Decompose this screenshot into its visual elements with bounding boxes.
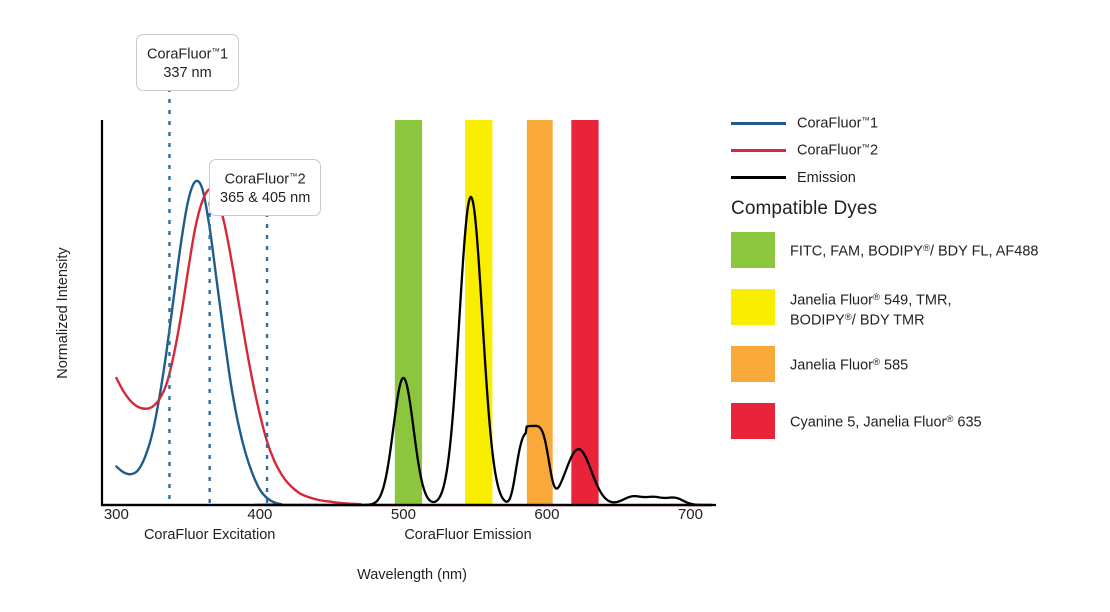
- dye-label-line: Cyanine 5, Janelia Fluor® 635: [790, 411, 982, 431]
- registered-symbol: ®: [845, 312, 852, 323]
- x-tick-300: 300: [104, 506, 129, 523]
- legend-line-swatch: [731, 122, 786, 125]
- dye-legend-row: Janelia Fluor® 585: [731, 346, 1110, 403]
- compatible-dyes-title: Compatible Dyes: [731, 198, 877, 220]
- legend-series-label: Emission: [797, 170, 856, 186]
- callout-corafluor1-line1: CoraFluor™1: [147, 42, 228, 64]
- dye-legend-row: Janelia Fluor® 549, TMR,BODIPY®/ BDY TMR: [731, 289, 1110, 346]
- x-axis-title: Wavelength (nm): [357, 567, 467, 583]
- series-legend: CoraFluor™1CoraFluor™2Emission: [731, 110, 1110, 191]
- trademark-symbol: ™: [289, 171, 298, 181]
- dye-label: FITC, FAM, BODIPY®/ BDY FL, AF488: [790, 232, 1038, 260]
- compatible-dyes-list: FITC, FAM, BODIPY®/ BDY FL, AF488Janelia…: [731, 232, 1110, 460]
- legend-line-swatch: [731, 176, 786, 179]
- registered-symbol: ®: [923, 243, 930, 254]
- green-band: [395, 120, 422, 505]
- dye-label-line: Janelia Fluor® 585: [790, 354, 908, 374]
- registered-symbol: ®: [873, 292, 880, 303]
- legend-series-label: CoraFluor™1: [797, 115, 878, 132]
- dye-label: Janelia Fluor® 549, TMR,BODIPY®/ BDY TMR: [790, 289, 951, 330]
- callout-corafluor2: CoraFluor™2 365 & 405 nm: [209, 159, 321, 216]
- dye-color-swatch: [731, 403, 775, 439]
- dye-label: Janelia Fluor® 585: [790, 346, 908, 374]
- legend-panel: CoraFluor™1CoraFluor™2Emission Compatibl…: [731, 0, 1110, 612]
- callout-corafluor1-line2: 337 nm: [147, 64, 228, 82]
- registered-symbol: ®: [946, 414, 953, 425]
- region-label-emission: CoraFluor Emission: [404, 527, 531, 543]
- dye-label: Cyanine 5, Janelia Fluor® 635: [790, 403, 982, 431]
- dye-label-line: BODIPY®/ BDY TMR: [790, 309, 951, 329]
- registered-symbol: ®: [873, 357, 880, 368]
- callout-corafluor2-line2: 365 & 405 nm: [220, 189, 310, 207]
- trademark-symbol: ™: [861, 115, 870, 125]
- dye-color-swatch: [731, 232, 775, 268]
- red-band: [571, 120, 598, 505]
- x-tick-500: 500: [391, 506, 416, 523]
- orange-band: [527, 120, 553, 505]
- dye-legend-row: FITC, FAM, BODIPY®/ BDY FL, AF488: [731, 232, 1110, 289]
- plot-area: CoraFluor™1 337 nm CoraFluor™2 365 & 405…: [0, 0, 730, 612]
- dye-label-line: FITC, FAM, BODIPY®/ BDY FL, AF488: [790, 240, 1038, 260]
- callout-corafluor1: CoraFluor™1 337 nm: [136, 34, 239, 91]
- dye-color-swatch: [731, 289, 775, 325]
- region-label-excitation: CoraFluor Excitation: [144, 527, 275, 543]
- legend-line-swatch: [731, 149, 786, 152]
- legend-series-label: CoraFluor™2: [797, 142, 878, 159]
- x-tick-400: 400: [247, 506, 272, 523]
- trademark-symbol: ™: [861, 142, 870, 152]
- x-tick-600: 600: [534, 506, 559, 523]
- legend-series-row: CoraFluor™2: [731, 137, 1110, 164]
- dye-color-swatch: [731, 346, 775, 382]
- x-tick-700: 700: [678, 506, 703, 523]
- trademark-symbol: ™: [211, 46, 220, 56]
- dye-label-line: Janelia Fluor® 549, TMR,: [790, 289, 951, 309]
- dye-legend-row: Cyanine 5, Janelia Fluor® 635: [731, 403, 1110, 460]
- legend-series-row: CoraFluor™1: [731, 110, 1110, 137]
- legend-series-row: Emission: [731, 164, 1110, 191]
- figure-root: CoraFluor™1 337 nm CoraFluor™2 365 & 405…: [0, 0, 1110, 612]
- callout-corafluor2-line1: CoraFluor™2: [220, 167, 310, 189]
- y-axis-title: Normalized Intensity: [55, 223, 71, 403]
- yellow-band: [465, 120, 492, 505]
